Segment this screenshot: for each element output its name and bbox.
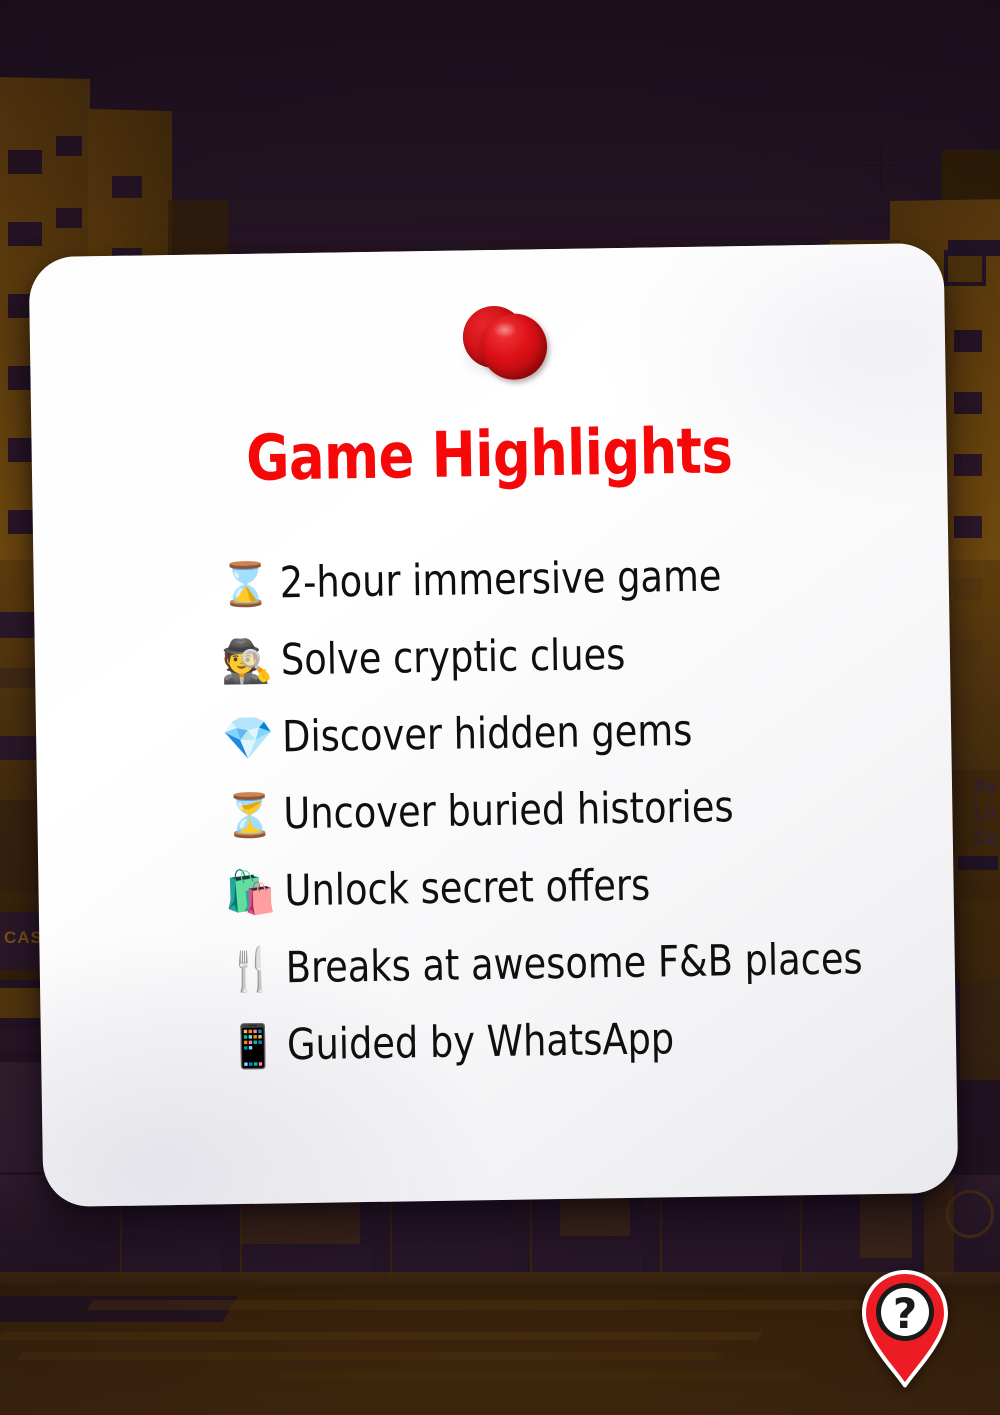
list-item: 🍴 Breaks at awesome F&B places [217, 920, 925, 1008]
list-item-label: Unlock secret offers [284, 865, 650, 914]
detective-icon: 🕵️ [213, 640, 282, 683]
list-item: 💎 Discover hidden gems [214, 689, 922, 777]
list-item: ⌛ 2-hour immersive game [211, 535, 919, 623]
list-item-label: Breaks at awesome F&B places [285, 938, 862, 990]
list-item-label: 2-hour immersive game [279, 555, 721, 605]
fork-and-knife-icon: 🍴 [217, 948, 286, 991]
page-title: Game Highlights [63, 411, 915, 497]
question-mark-map-pin-logo[interactable]: ? [858, 1268, 952, 1390]
hourglass-flowing-icon: ⏳ [215, 794, 284, 837]
list-item-label: Uncover buried histories [283, 786, 734, 836]
highlights-card: Game Highlights ⌛ 2-hour immersive game … [29, 243, 959, 1207]
mobile-phone-icon: 📱 [219, 1025, 288, 1068]
list-item: 🛍️ Unlock secret offers [216, 843, 924, 931]
hourglass-done-icon: ⌛ [211, 563, 280, 606]
list-item: 🕵️ Solve cryptic clues [212, 612, 920, 700]
list-item-label: Discover hidden gems [282, 710, 693, 759]
card-content: Game Highlights ⌛ 2-hour immersive game … [29, 243, 959, 1207]
list-item-label: Solve cryptic clues [281, 634, 626, 682]
list-item: 📱 Guided by WhatsApp [218, 997, 926, 1085]
question-mark-glyph: ? [893, 1289, 917, 1338]
highlights-list: ⌛ 2-hour immersive game 🕵️ Solve cryptic… [211, 535, 926, 1085]
gem-stone-icon: 💎 [214, 717, 283, 760]
shopping-bags-icon: 🛍️ [216, 871, 285, 914]
list-item: ⏳ Uncover buried histories [215, 766, 923, 854]
list-item-label: Guided by WhatsApp [287, 1018, 675, 1067]
map-pin-icon: ? [858, 1268, 952, 1390]
